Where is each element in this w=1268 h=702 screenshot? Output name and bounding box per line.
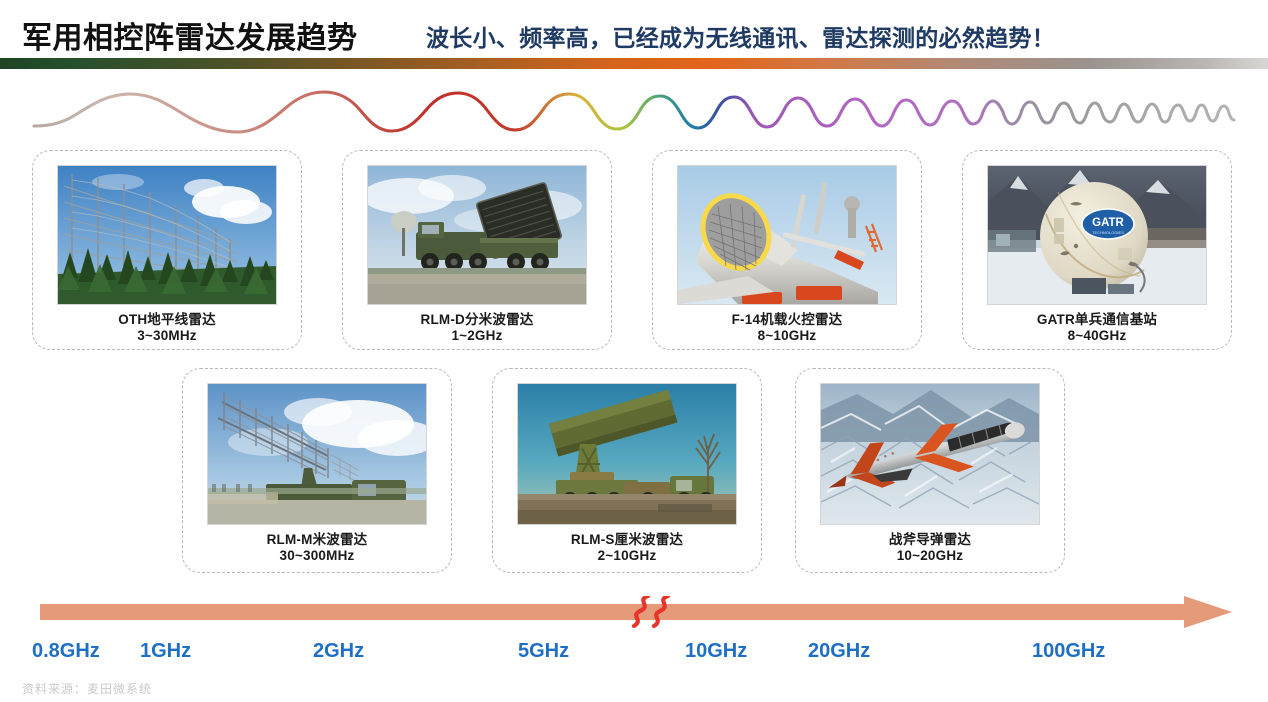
card-rlm-s-radar[interactable]: RLM-S厘米波雷达 2~10GHz bbox=[492, 368, 762, 573]
axis-tick: 100GHz bbox=[1032, 640, 1105, 663]
photo-inflatable-satcom-dome: GATR TECHNOLOGIES bbox=[987, 165, 1207, 305]
card-rlm-m-radar[interactable]: RLM-M米波雷达 30~300MHz bbox=[182, 368, 452, 573]
card-frequency: 30~300MHz bbox=[267, 548, 368, 564]
spectrum-wave-graphic bbox=[26, 84, 1242, 146]
card-frequency: 8~40GHz bbox=[1037, 328, 1157, 344]
card-frequency: 1~2GHz bbox=[421, 328, 534, 344]
frequency-axis bbox=[0, 596, 1268, 642]
axis-tick: 10GHz bbox=[685, 640, 747, 663]
source-note: 资料来源：麦田微系统 bbox=[22, 680, 152, 697]
card-frequency: 8~10GHz bbox=[732, 328, 843, 344]
photo-vhf-yagi-array-truck bbox=[207, 383, 427, 525]
photo-aircraft-nose-radar bbox=[677, 165, 897, 305]
card-label: RLM-S厘米波雷达 bbox=[571, 532, 683, 547]
svg-text:GATR: GATR bbox=[1092, 217, 1124, 229]
card-caption: 战斧导弹雷达 10~20GHz bbox=[889, 532, 971, 565]
card-label: GATR单兵通信基站 bbox=[1037, 312, 1157, 327]
axis-tick: 1GHz bbox=[140, 640, 191, 663]
axis-tick: 20GHz bbox=[808, 640, 870, 663]
card-frequency: 3~30MHz bbox=[118, 328, 216, 344]
card-label: OTH地平线雷达 bbox=[118, 312, 216, 327]
card-caption: RLM-D分米波雷达 1~2GHz bbox=[421, 312, 534, 345]
photo-mobile-tilt-radar bbox=[517, 383, 737, 525]
card-frequency: 2~10GHz bbox=[571, 548, 683, 564]
photo-truck-panel-radar bbox=[367, 165, 587, 305]
card-caption: OTH地平线雷达 3~30MHz bbox=[118, 312, 216, 345]
header-gradient-rule bbox=[0, 58, 1268, 69]
card-gatr-radar[interactable]: GATR TECHNOLOGIES bbox=[962, 150, 1232, 350]
axis-tick: 0.8GHz bbox=[32, 640, 100, 663]
card-caption: RLM-S厘米波雷达 2~10GHz bbox=[571, 532, 683, 565]
slide-root: 军用相控阵雷达发展趋势 波长小、频率高，已经成为无线通讯、雷达探测的必然趋势！ bbox=[0, 0, 1268, 702]
photo-oth-antenna-array bbox=[57, 165, 277, 305]
card-label: RLM-M米波雷达 bbox=[267, 532, 368, 547]
card-tomahawk-radar[interactable]: 战斧导弹雷达 10~20GHz bbox=[795, 368, 1065, 573]
card-label: RLM-D分米波雷达 bbox=[421, 312, 534, 327]
card-label: F-14机载火控雷达 bbox=[732, 312, 843, 327]
card-caption: RLM-M米波雷达 30~300MHz bbox=[267, 532, 368, 565]
photo-cruise-missile bbox=[820, 383, 1040, 525]
axis-tick-labels: 0.8GHz 1GHz 2GHz 5GHz 10GHz 20GHz 100GHz bbox=[0, 640, 1268, 674]
card-frequency: 10~20GHz bbox=[889, 548, 971, 564]
card-rlm-d-radar[interactable]: RLM-D分米波雷达 1~2GHz bbox=[342, 150, 612, 350]
card-oth-radar[interactable]: OTH地平线雷达 3~30MHz bbox=[32, 150, 302, 350]
axis-tick: 5GHz bbox=[518, 640, 569, 663]
page-subtitle: 波长小、频率高，已经成为无线通讯、雷达探测的必然趋势！ bbox=[426, 19, 1055, 53]
page-title: 军用相控阵雷达发展趋势 bbox=[22, 13, 358, 57]
card-caption: F-14机载火控雷达 8~10GHz bbox=[732, 312, 843, 345]
card-caption: GATR单兵通信基站 8~40GHz bbox=[1037, 312, 1157, 345]
axis-tick: 2GHz bbox=[313, 640, 364, 663]
card-f14-radar[interactable]: F-14机载火控雷达 8~10GHz bbox=[652, 150, 922, 350]
slide-header: 军用相控阵雷达发展趋势 波长小、频率高，已经成为无线通讯、雷达探测的必然趋势！ bbox=[0, 0, 1268, 70]
svg-text:TECHNOLOGIES: TECHNOLOGIES bbox=[1092, 230, 1124, 235]
card-label: 战斧导弹雷达 bbox=[889, 532, 971, 547]
